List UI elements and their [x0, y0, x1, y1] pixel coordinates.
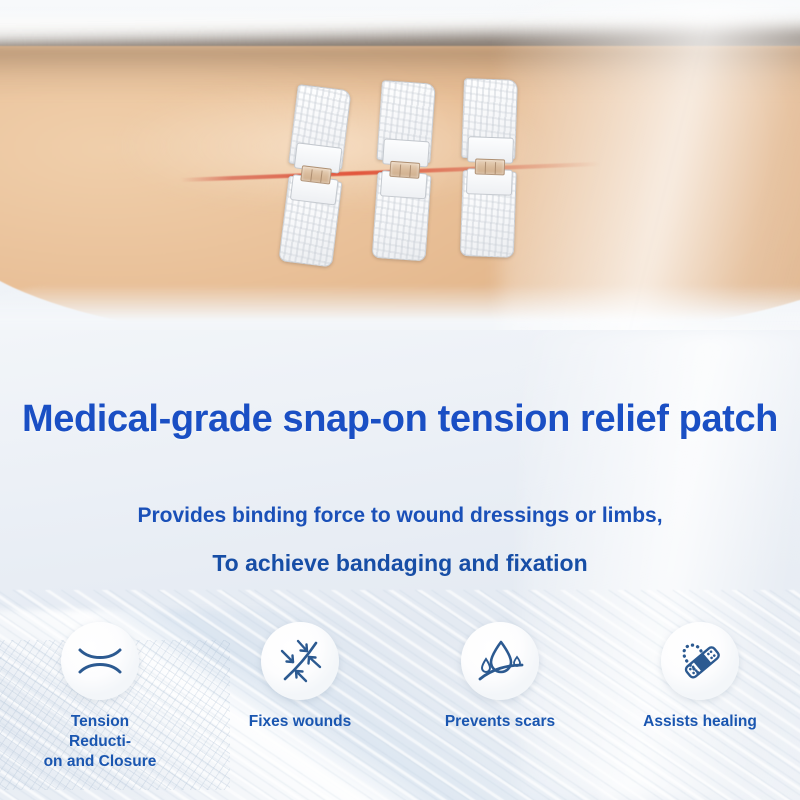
feature-item-prevents-scars: Prevents scars — [400, 622, 600, 732]
feature-item-assists-healing: Assists healing — [600, 622, 800, 732]
product-photo — [0, 0, 800, 360]
tension-arcs-icon — [74, 635, 126, 687]
feature-item-fixes-wounds: Fixes wounds — [200, 622, 400, 732]
water-droplet-icon — [474, 635, 526, 687]
feature-icon-badge — [461, 622, 539, 700]
feature-icon-badge — [61, 622, 139, 700]
feature-item-tension-reduction: Tension Reducti- on and Closure — [0, 622, 200, 771]
patch-group — [0, 0, 800, 360]
converging-arrows-icon — [274, 635, 326, 687]
adhesive-bandage-heart-icon — [674, 635, 726, 687]
feature-list: Tension Reducti- on and Closure — [0, 622, 800, 772]
patch-snap-connector — [475, 158, 506, 175]
subtitle-line-2: To achieve bandaging and fixation — [0, 550, 800, 577]
product-marketing-banner: Medical-grade snap-on tension relief pat… — [0, 0, 800, 800]
feature-label: Prevents scars — [445, 712, 555, 732]
feature-icon-badge — [261, 622, 339, 700]
feature-icon-badge — [661, 622, 739, 700]
subtitle-line-1: Provides binding force to wound dressing… — [0, 504, 800, 528]
feature-label: Tension Reducti- on and Closure — [39, 712, 161, 771]
page-title: Medical-grade snap-on tension relief pat… — [0, 398, 800, 441]
feature-label: Assists healing — [643, 712, 757, 732]
patch-snap-connector — [389, 161, 420, 179]
feature-label: Fixes wounds — [249, 712, 352, 732]
